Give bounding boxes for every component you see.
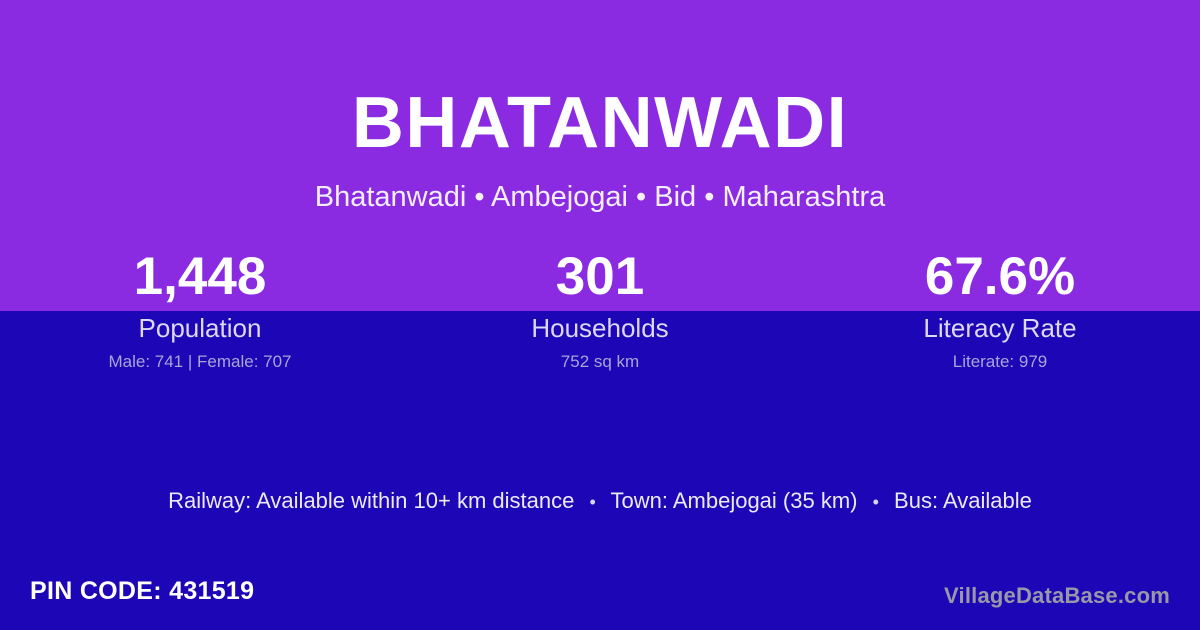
bullet-separator-icon: •	[589, 488, 595, 516]
village-info-card: BHATANWADI Bhatanwadi • Ambejogai • Bid …	[0, 0, 1200, 630]
amenity-railway: Railway: Available within 10+ km distanc…	[168, 488, 574, 513]
page-title: BHATANWADI	[0, 80, 1200, 166]
literate-count: Literate: 979	[800, 351, 1200, 372]
pin-code: PIN CODE: 431519	[30, 575, 254, 607]
population-value: 1,448	[0, 246, 400, 308]
stat-households: 301 Households 752 sq km	[400, 246, 800, 372]
households-value: 301	[400, 246, 800, 308]
amenity-town: Town: Ambejogai (35 km)	[610, 488, 857, 513]
stat-population: 1,448 Population Male: 741 | Female: 707	[0, 246, 400, 372]
area-value: 752 sq km	[400, 351, 800, 372]
households-label: Households	[400, 313, 800, 343]
population-breakdown: Male: 741 | Female: 707	[0, 351, 400, 372]
breadcrumb: Bhatanwadi • Ambejogai • Bid • Maharasht…	[0, 180, 1200, 214]
literacy-value: 67.6%	[800, 246, 1200, 308]
literacy-label: Literacy Rate	[800, 313, 1200, 343]
amenities-line: Railway: Available within 10+ km distanc…	[0, 487, 1200, 516]
stat-literacy: 67.6% Literacy Rate Literate: 979	[800, 246, 1200, 372]
footer: PIN CODE: 431519 VillageDataBase.com	[0, 575, 1200, 620]
stats-row: 1,448 Population Male: 741 | Female: 707…	[0, 246, 1200, 372]
title-block: BHATANWADI Bhatanwadi • Ambejogai • Bid …	[0, 80, 1200, 214]
amenity-bus: Bus: Available	[894, 488, 1032, 513]
population-label: Population	[0, 313, 400, 343]
site-brand: VillageDataBase.com	[944, 582, 1170, 610]
bullet-separator-icon: •	[873, 488, 879, 516]
